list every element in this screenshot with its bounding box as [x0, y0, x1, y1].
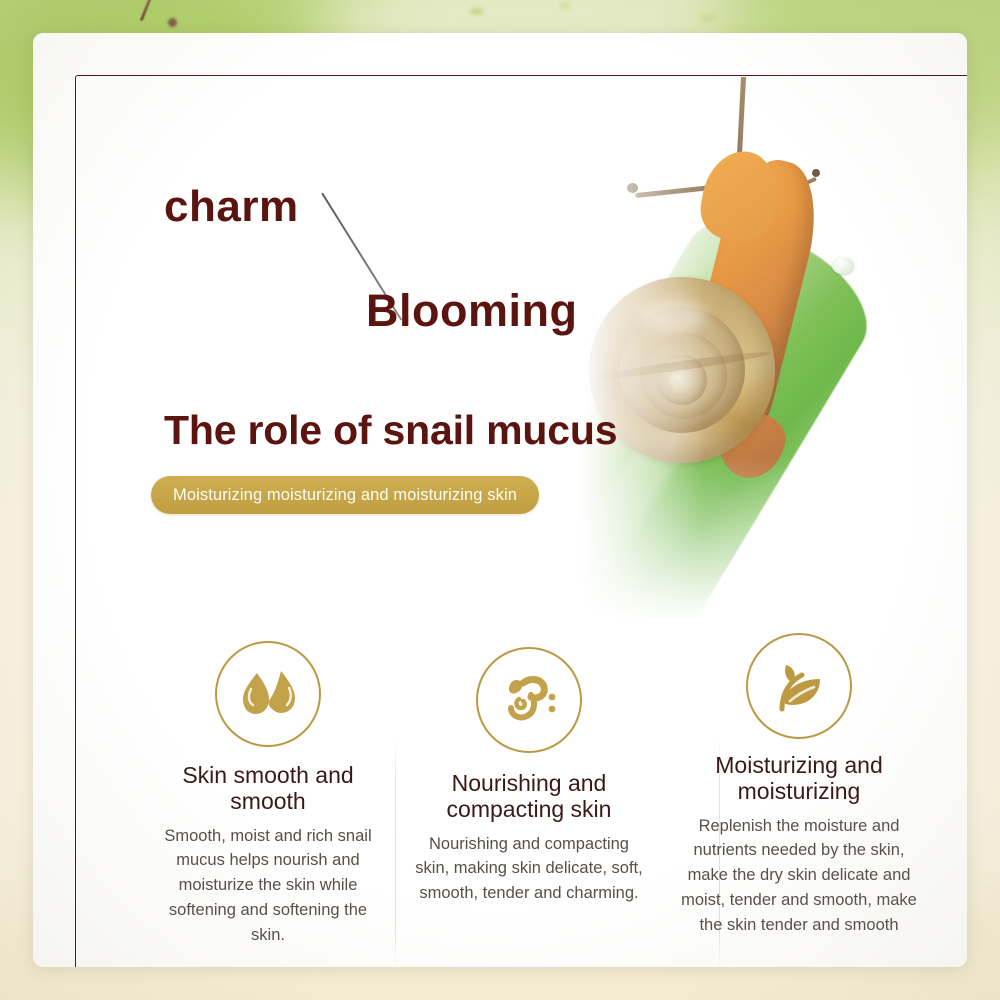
subtitle-pill-badge: Moisturizing moisturizing and moisturizi…	[151, 476, 539, 514]
feature-column-3: Moisturizing and moisturizing Replenish …	[665, 633, 933, 967]
background-speck	[470, 8, 484, 15]
water-droplets-icon	[215, 641, 321, 747]
leaf-sprout-icon	[746, 633, 852, 739]
snail-tentacle-tip-right	[812, 169, 820, 177]
feature-body: Nourishing and compacting skin, making s…	[412, 832, 646, 906]
feature-title: Skin smooth and smooth	[148, 763, 388, 815]
feature-columns: Skin smooth and smooth Smooth, moist and…	[143, 633, 933, 967]
snail-swirl-icon	[476, 647, 582, 753]
tagline-blooming: Blooming	[366, 288, 577, 333]
tagline-charm: charm	[164, 185, 299, 229]
content-card: charm Blooming The role of snail mucus M…	[33, 33, 967, 967]
feature-title: Nourishing and compacting skin	[409, 771, 649, 823]
page-title: The role of snail mucus	[164, 410, 617, 451]
background-speck	[560, 3, 570, 9]
feature-column-2: Nourishing and compacting skin Nourishin…	[393, 633, 665, 967]
background-speck	[700, 14, 716, 22]
feature-body: Replenish the moisture and nutrients nee…	[679, 814, 919, 938]
feature-title: Moisturizing and moisturizing	[679, 753, 919, 805]
feature-column-1: Skin smooth and smooth Smooth, moist and…	[143, 633, 393, 967]
snail-photo	[553, 77, 967, 667]
product-infographic: charm Blooming The role of snail mucus M…	[0, 0, 1000, 1000]
feature-body: Smooth, moist and rich snail mucus helps…	[151, 824, 385, 948]
twig-tip-decoration	[168, 18, 177, 27]
